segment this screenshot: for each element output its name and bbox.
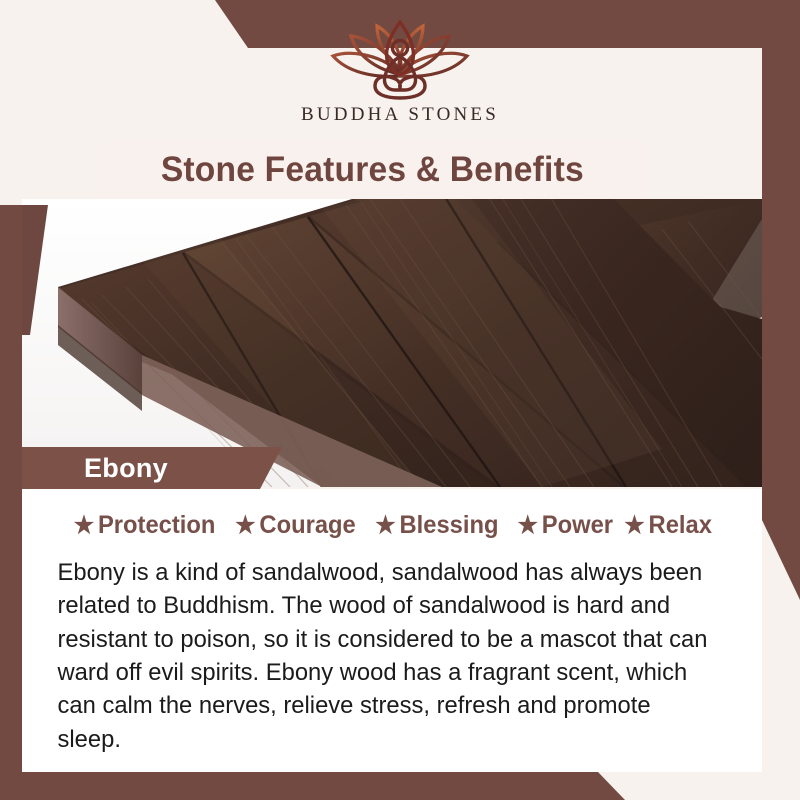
description-text: Ebony is a kind of sandalwood, sandalwoo…: [42, 556, 721, 756]
brand-name: BUDDHA STONES: [301, 104, 499, 126]
star-icon: ★: [74, 514, 94, 538]
product-image: [22, 199, 762, 487]
benefit-label: Relax: [648, 511, 711, 540]
page-title: Stone Features & Benefits: [160, 150, 583, 190]
brand-header: BUDDHA STONES: [0, 0, 800, 148]
star-icon: ★: [624, 514, 644, 538]
star-icon: ★: [518, 514, 538, 538]
benefits-row: ★ Protection ★ Courage ★ Blessing ★ Powe…: [42, 511, 742, 540]
benefit-label: Protection: [98, 511, 215, 540]
title-band: Stone Features & Benefits: [98, 141, 646, 199]
benefit-label: Power: [542, 511, 613, 540]
benefit-blessing: ★ Blessing: [376, 511, 499, 540]
poster-canvas: BUDDHA STONES Stone Features & Benefits: [0, 0, 800, 800]
content-panel: ★ Protection ★ Courage ★ Blessing ★ Powe…: [22, 489, 762, 772]
benefit-relax: ★ Relax: [624, 511, 712, 540]
benefit-protection: ★ Protection: [74, 511, 216, 540]
frame-bottom-bar: [0, 772, 800, 800]
lotus-meditation-icon: [315, 16, 485, 100]
benefit-courage: ★ Courage: [236, 511, 357, 540]
frame-left-bar: [0, 205, 22, 800]
benefit-label: Blessing: [400, 511, 499, 540]
product-name-band: Ebony: [22, 447, 282, 489]
star-icon: ★: [236, 514, 256, 538]
star-icon: ★: [376, 514, 396, 538]
benefit-label: Courage: [260, 511, 356, 540]
product-name: Ebony: [84, 453, 168, 484]
benefit-power: ★ Power: [518, 511, 614, 540]
